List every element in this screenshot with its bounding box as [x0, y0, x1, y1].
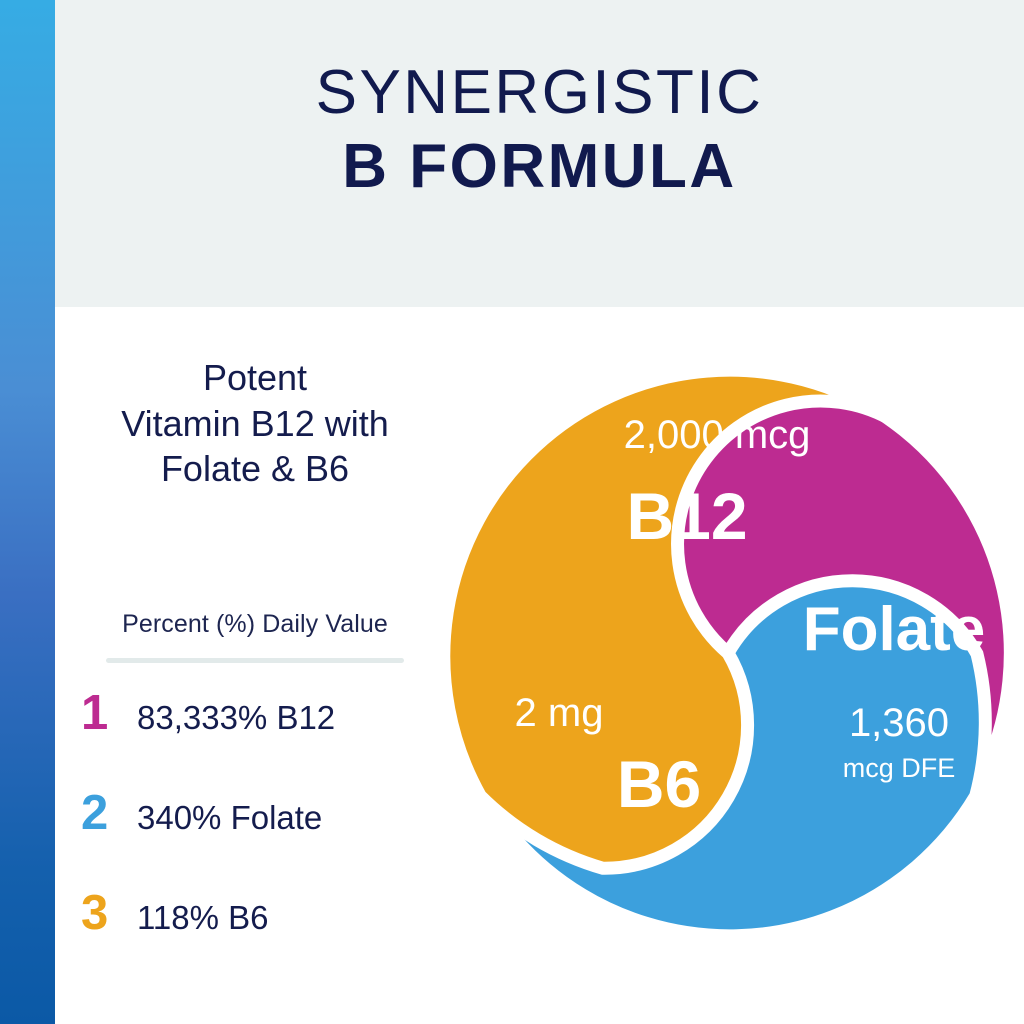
daily-value-section: Percent (%) Daily Value 1 83,333% B12 2 …	[55, 610, 455, 989]
infographic-page: SYNERGISTIC B FORMULA Potent Vitamin B12…	[0, 0, 1024, 1024]
tagline-line-2: Vitamin B12 with	[55, 401, 455, 447]
product-tagline: Potent Vitamin B12 with Folate & B6	[55, 355, 455, 492]
nutrient-triskelion-diagram: 2,000 mcg B12 Folate 1,360 mcg DFE 2 mg …	[437, 362, 1019, 944]
daily-value-rank: 1	[81, 689, 131, 738]
daily-value-heading: Percent (%) Daily Value	[55, 610, 455, 639]
list-item: 3 118% B6	[81, 889, 455, 989]
section-divider	[106, 658, 404, 663]
list-item: 2 340% Folate	[81, 789, 455, 889]
title-line-primary: SYNERGISTIC	[316, 60, 764, 127]
daily-value-text: 118% B6	[131, 901, 268, 934]
list-item: 1 83,333% B12	[81, 689, 455, 789]
tagline-line-3: Folate & B6	[55, 446, 455, 492]
left-accent-bar	[0, 0, 55, 1024]
daily-value-text: 340% Folate	[131, 801, 322, 834]
title-line-secondary: B FORMULA	[342, 127, 736, 206]
daily-value-rank: 2	[81, 789, 131, 838]
page-title: SYNERGISTIC B FORMULA	[55, 0, 1024, 307]
left-content-column: Potent Vitamin B12 with Folate & B6 Perc…	[55, 340, 455, 1000]
daily-value-text: 83,333% B12	[131, 701, 335, 734]
daily-value-list: 1 83,333% B12 2 340% Folate 3 118% B6	[55, 689, 455, 989]
daily-value-rank: 3	[81, 889, 131, 938]
tagline-line-1: Potent	[55, 355, 455, 401]
